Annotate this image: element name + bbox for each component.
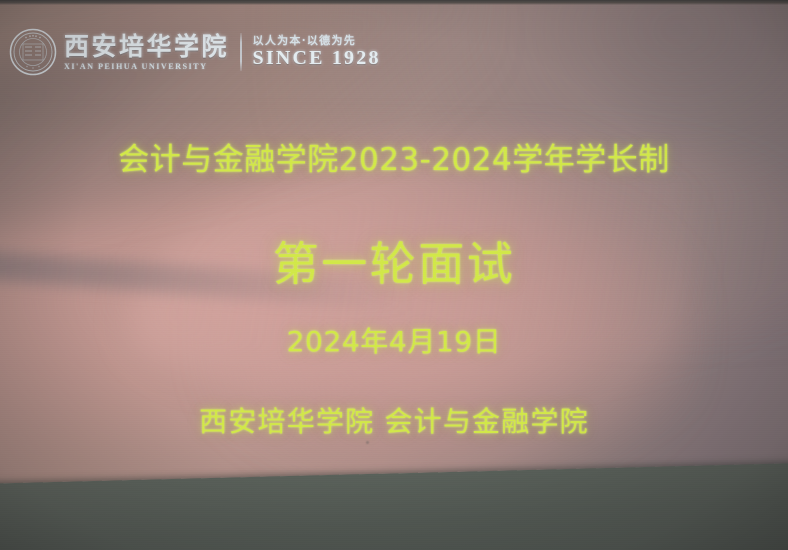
university-name-cn: 西安培华学院 xyxy=(64,34,229,60)
projected-slide-photo: 西安培华学院 XI'AN PEIHUA UNIVERSITY 以人为本·以德为先… xyxy=(0,0,788,550)
slide-organization: 西安培华学院 会计与金融学院 xyxy=(0,400,788,440)
dust-speck xyxy=(366,441,369,444)
slide-headline: 第一轮面试 xyxy=(0,228,788,294)
university-name-block: 西安培华学院 XI'AN PEIHUA UNIVERSITY xyxy=(64,34,229,71)
university-name-en: XI'AN PEIHUA UNIVERSITY xyxy=(64,62,229,71)
university-since-label: SINCE 1928 xyxy=(253,48,381,69)
university-motto-block: 以人为本·以德为先 SINCE 1928 xyxy=(253,35,381,69)
university-seal-icon xyxy=(8,27,58,77)
slide-date: 2024年4月19日 xyxy=(0,320,788,360)
university-logo-lockup: 西安培华学院 XI'AN PEIHUA UNIVERSITY 以人为本·以德为先… xyxy=(8,24,381,80)
slide-subject-line: 会计与金融学院2023-2024学年学长制 xyxy=(0,134,788,179)
vertical-divider-icon xyxy=(240,33,242,71)
university-motto: 以人为本·以德为先 xyxy=(253,35,381,47)
screen-top-edge xyxy=(0,0,788,5)
